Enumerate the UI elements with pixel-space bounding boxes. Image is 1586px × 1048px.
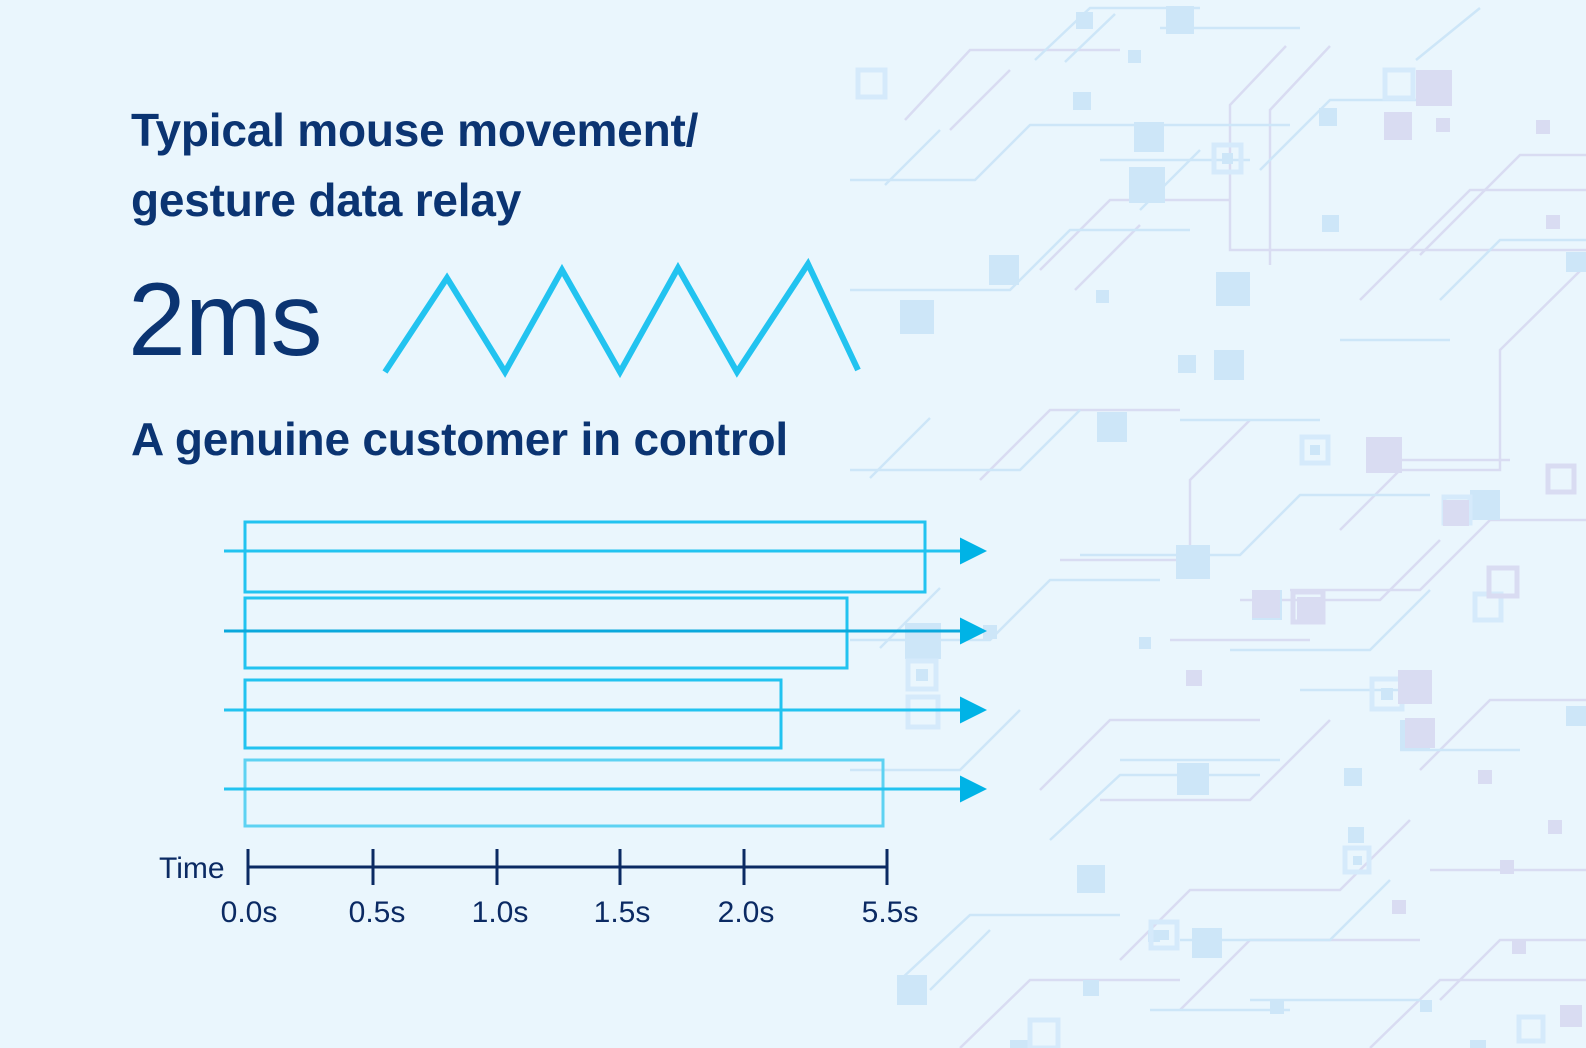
tick-label-0: 0.0s: [221, 896, 278, 929]
tick-label-5: 5.5s: [862, 896, 919, 929]
time-axis-caption: Time: [159, 852, 225, 885]
tick-label-2: 1.0s: [472, 896, 529, 929]
tick-label-4: 2.0s: [718, 896, 775, 929]
time-axis: [248, 849, 887, 885]
tick-label-3: 1.5s: [594, 896, 651, 929]
chart-bar-1: [224, 522, 960, 592]
latency-bar-chart: Time 0.0s 0.5s 1.0s 1.5s 2.0s 5.5s: [0, 0, 1586, 1048]
chart-bar-4: [224, 760, 960, 826]
chart-bar-3: [224, 680, 960, 748]
chart-bar-2: [224, 598, 960, 668]
infographic-canvas: Typical mouse movement/ gesture data rel…: [0, 0, 1586, 1048]
tick-label-1: 0.5s: [349, 896, 406, 929]
